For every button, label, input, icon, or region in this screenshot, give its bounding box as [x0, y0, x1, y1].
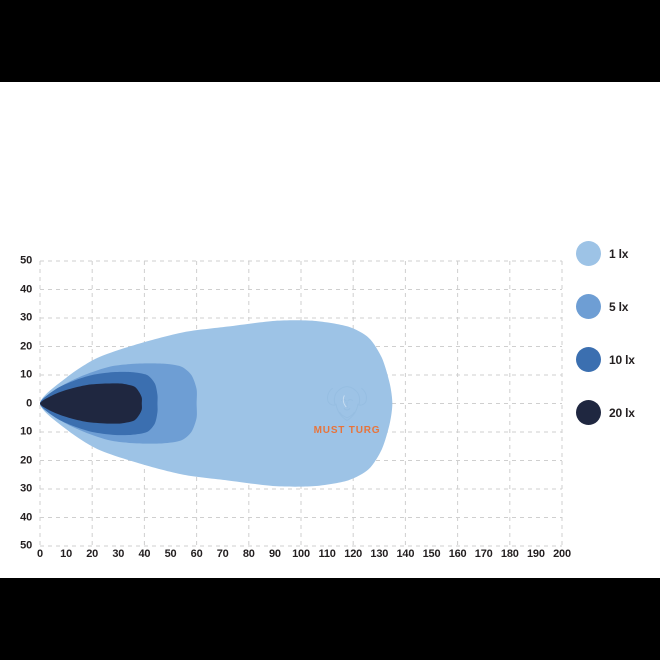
- x-axis-tick-label: 80: [243, 549, 255, 560]
- y-axis-tick-label: 40: [20, 512, 32, 523]
- y-axis-tick-label: 20: [20, 455, 32, 466]
- legend-item-label: 5 lx: [609, 300, 628, 314]
- legend-item-1-lx[interactable]: 1 lx: [576, 227, 656, 280]
- x-axis-tick-label: 50: [165, 549, 177, 560]
- circle-swatch-icon: [576, 347, 601, 372]
- y-axis-tick-label: 10: [20, 427, 32, 438]
- legend: 1 lx5 lx10 lx20 lx: [576, 227, 656, 439]
- legend-item-label: 20 lx: [609, 406, 635, 420]
- y-axis-tick-label: 30: [20, 313, 32, 324]
- circle-swatch-icon: [576, 400, 601, 425]
- x-axis-tick-label: 10: [60, 549, 72, 560]
- x-axis-tick-label: 140: [397, 549, 415, 560]
- x-axis-tick-label: 90: [269, 549, 281, 560]
- x-axis-tick-label: 0: [37, 549, 43, 560]
- x-axis-tick-label: 100: [292, 549, 310, 560]
- circle-swatch-icon: [576, 294, 601, 319]
- letterbox-bar-bottom: [0, 578, 660, 660]
- y-axis-tick-label: 20: [20, 341, 32, 352]
- x-axis-tick-label: 170: [475, 549, 493, 560]
- y-axis-tick-label: 50: [20, 541, 32, 552]
- screenshot-root: 504030201001020304050 010203040506070809…: [0, 0, 660, 660]
- figure-content-band: 504030201001020304050 010203040506070809…: [0, 82, 660, 578]
- letterbox-bar-top: [0, 0, 660, 82]
- x-axis-tick-label: 130: [370, 549, 388, 560]
- legend-item-20-lx[interactable]: 20 lx: [576, 386, 656, 439]
- legend-item-5-lx[interactable]: 5 lx: [576, 280, 656, 333]
- x-axis-tick-label: 40: [138, 549, 150, 560]
- x-axis-tick-label: 180: [501, 549, 519, 560]
- legend-item-label: 10 lx: [609, 353, 635, 367]
- y-axis-tick-label: 0: [26, 398, 32, 409]
- x-axis-tick-label: 190: [527, 549, 545, 560]
- beam-area-group: [40, 320, 392, 486]
- circle-swatch-icon: [576, 241, 601, 266]
- y-axis-tick-label: 40: [20, 284, 32, 295]
- x-axis-tick-label: 150: [423, 549, 441, 560]
- x-axis-tick-label: 20: [86, 549, 98, 560]
- x-axis-tick-label: 30: [112, 549, 124, 560]
- x-axis-tick-label: 200: [553, 549, 571, 560]
- y-axis-tick-label: 10: [20, 370, 32, 381]
- x-axis-tick-label: 60: [191, 549, 203, 560]
- y-axis-tick-label: 50: [20, 256, 32, 267]
- y-axis-tick-label: 30: [20, 484, 32, 495]
- legend-item-label: 1 lx: [609, 247, 628, 261]
- x-axis-tick-label: 70: [217, 549, 229, 560]
- x-axis-tick-label: 120: [344, 549, 362, 560]
- legend-item-10-lx[interactable]: 10 lx: [576, 333, 656, 386]
- x-axis-tick-label: 160: [449, 549, 467, 560]
- x-axis-tick-label: 110: [319, 549, 336, 560]
